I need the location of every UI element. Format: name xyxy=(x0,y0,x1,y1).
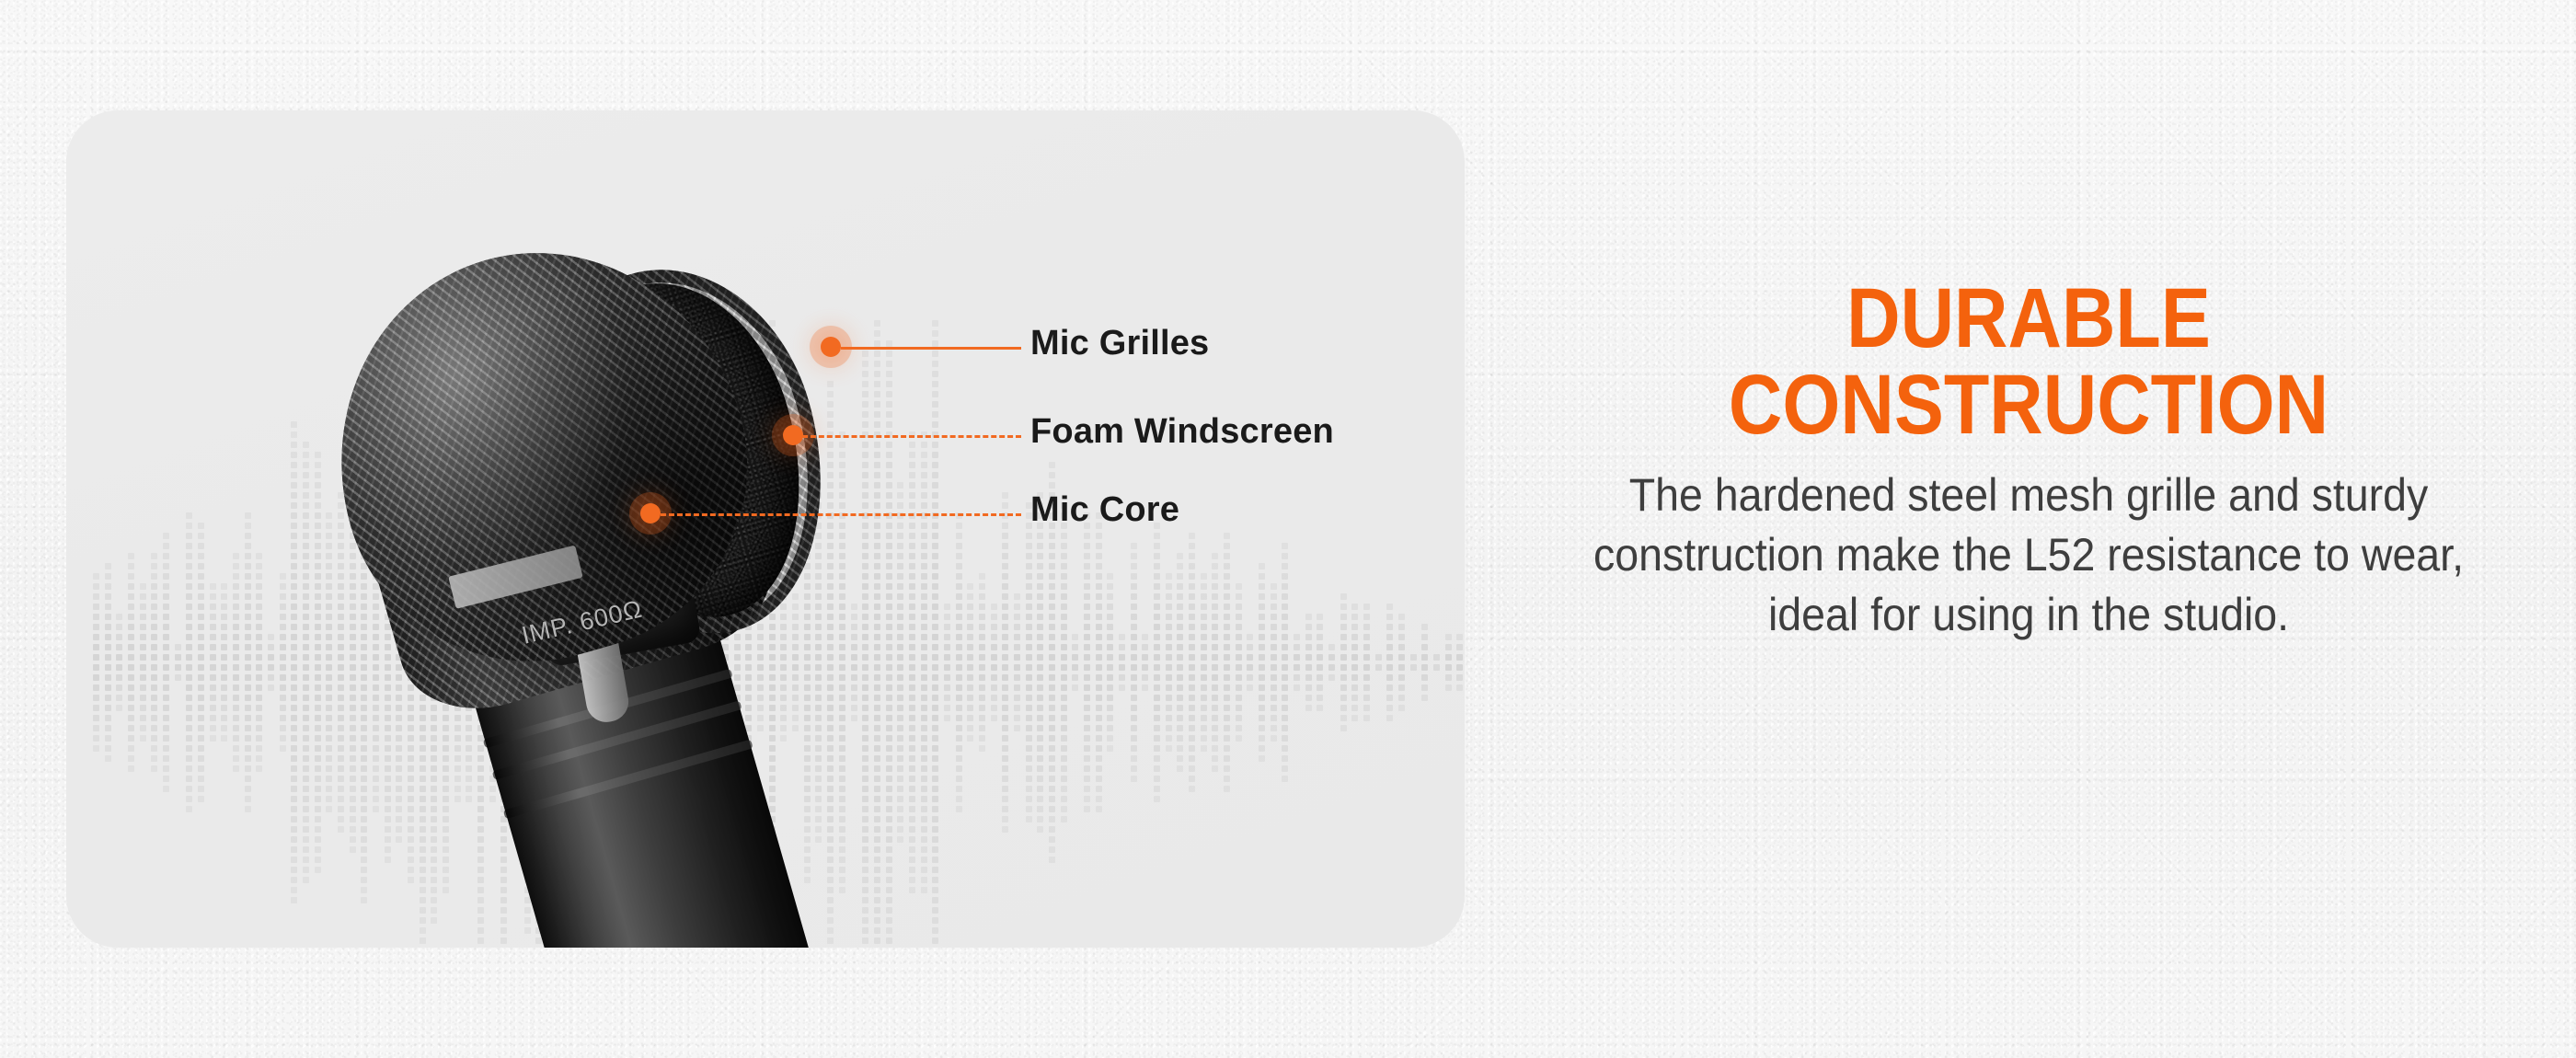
waveform-dot xyxy=(256,735,262,742)
waveform-dot xyxy=(1177,573,1183,580)
waveform-dot xyxy=(186,725,192,731)
waveform-dot xyxy=(128,664,134,671)
waveform-dot xyxy=(198,674,204,681)
waveform-dot xyxy=(128,634,134,640)
waveform-dot xyxy=(280,745,286,752)
waveform-dot xyxy=(1189,553,1195,559)
waveform-dot xyxy=(151,664,157,671)
waveform-dot xyxy=(245,725,251,731)
waveform-dot xyxy=(186,664,192,671)
waveform-column xyxy=(232,553,240,772)
waveform-dot xyxy=(1259,573,1265,580)
waveform-dot xyxy=(1259,624,1265,630)
waveform-dot xyxy=(1166,664,1172,671)
waveform-dot xyxy=(1386,695,1393,701)
waveform-dot xyxy=(1282,684,1288,691)
waveform-dot xyxy=(1294,634,1300,640)
waveform-dot xyxy=(1271,604,1277,610)
waveform-column xyxy=(1270,583,1278,742)
waveform-dot xyxy=(315,826,321,833)
waveform-dot xyxy=(186,604,192,610)
waveform-dot xyxy=(1282,573,1288,580)
waveform-dot xyxy=(1247,634,1253,640)
waveform-dot xyxy=(151,583,157,590)
waveform-dot xyxy=(1398,634,1405,640)
waveform-dot xyxy=(140,705,146,711)
waveform-dot xyxy=(186,553,192,559)
waveform-dot xyxy=(1351,684,1358,691)
waveform-dot xyxy=(140,583,146,590)
waveform-dot xyxy=(1386,664,1393,671)
waveform-dot xyxy=(1131,543,1137,549)
waveform-dot xyxy=(1236,604,1242,610)
waveform-dot xyxy=(303,836,309,843)
waveform-dot xyxy=(1363,604,1370,610)
waveform-dot xyxy=(1177,745,1183,752)
waveform-dot xyxy=(1236,593,1242,600)
waveform-dot xyxy=(1317,634,1323,640)
waveform-dot xyxy=(1271,684,1277,691)
waveform-dot xyxy=(1445,674,1452,681)
waveform-dot xyxy=(93,654,99,661)
waveform-dot xyxy=(186,614,192,620)
waveform-dot xyxy=(210,583,216,590)
waveform-dot xyxy=(1154,624,1160,630)
waveform-dot xyxy=(280,725,286,731)
waveform-dot xyxy=(116,614,122,620)
waveform-dot xyxy=(1224,695,1230,701)
waveform-dot xyxy=(1328,664,1335,671)
waveform-dot xyxy=(163,624,169,630)
waveform-dot xyxy=(245,644,251,650)
waveform-dot xyxy=(93,684,99,691)
waveform-dot xyxy=(1305,705,1312,711)
waveform-dot xyxy=(245,735,251,742)
waveform-dot xyxy=(1154,553,1160,559)
waveform-column xyxy=(1293,634,1301,691)
waveform-dot xyxy=(151,765,157,772)
waveform-dot xyxy=(198,614,204,620)
waveform-dot xyxy=(315,867,321,873)
waveform-dot xyxy=(1177,755,1183,762)
waveform-dot xyxy=(1259,745,1265,752)
waveform-dot xyxy=(1212,583,1218,590)
waveform-dot xyxy=(163,786,169,792)
waveform-dot xyxy=(163,745,169,752)
waveform-dot xyxy=(256,624,262,630)
waveform-dot xyxy=(210,674,216,681)
waveform-column xyxy=(115,614,123,711)
waveform-dot xyxy=(1282,755,1288,762)
waveform-dot xyxy=(1189,573,1195,580)
waveform-column xyxy=(220,583,228,742)
waveform-dot xyxy=(221,604,227,610)
waveform-dot xyxy=(1398,684,1405,691)
waveform-dot xyxy=(93,745,99,752)
waveform-dot xyxy=(233,695,239,701)
waveform-dot xyxy=(1201,614,1207,620)
waveform-dot xyxy=(303,857,309,863)
waveform-column xyxy=(127,553,135,772)
waveform-dot xyxy=(163,674,169,681)
waveform-dot xyxy=(1340,684,1347,691)
waveform-dot xyxy=(1224,786,1230,792)
waveform-dot xyxy=(1224,674,1230,681)
waveform-dot xyxy=(256,644,262,650)
waveform-dot xyxy=(1166,705,1172,711)
waveform-dot xyxy=(140,634,146,640)
waveform-dot xyxy=(105,593,111,600)
waveform-dot xyxy=(256,705,262,711)
waveform-dot xyxy=(1236,614,1242,620)
waveform-dot xyxy=(1259,614,1265,620)
waveform-dot xyxy=(1363,684,1370,691)
waveform-dot xyxy=(210,593,216,600)
waveform-dot xyxy=(1247,674,1253,681)
waveform-column xyxy=(1165,573,1173,752)
waveform-dot xyxy=(186,806,192,812)
waveform-dot xyxy=(291,846,297,853)
waveform-dot xyxy=(1317,624,1323,630)
waveform-dot xyxy=(1236,715,1242,721)
waveform-dot xyxy=(1177,654,1183,661)
waveform-dot xyxy=(1224,705,1230,711)
waveform-dot xyxy=(1189,624,1195,630)
waveform-dot xyxy=(1224,684,1230,691)
waveform-dot xyxy=(221,715,227,721)
waveform-dot xyxy=(1259,664,1265,671)
waveform-dot xyxy=(1177,583,1183,590)
waveform-dot xyxy=(1282,543,1288,549)
waveform-dot xyxy=(1351,614,1358,620)
waveform-dot xyxy=(1456,664,1463,671)
waveform-dot xyxy=(105,634,111,640)
waveform-dot xyxy=(140,715,146,721)
waveform-dot xyxy=(198,745,204,752)
waveform-dot xyxy=(1224,765,1230,772)
waveform-dot xyxy=(1177,563,1183,569)
waveform-dot xyxy=(163,573,169,580)
waveform-dot xyxy=(1212,624,1218,630)
waveform-dot xyxy=(1363,664,1370,671)
waveform-dot xyxy=(210,624,216,630)
waveform-dot xyxy=(1236,583,1242,590)
waveform-dot xyxy=(93,634,99,640)
waveform-dot xyxy=(1189,664,1195,671)
callout-label-foam-windscreen: Foam Windscreen xyxy=(1030,412,1334,452)
waveform-dot xyxy=(1386,715,1393,721)
waveform-dot xyxy=(221,624,227,630)
waveform-dot xyxy=(186,563,192,569)
waveform-dot xyxy=(1456,654,1463,661)
waveform-dot xyxy=(105,563,111,569)
callout-line-mic-grilles xyxy=(841,347,1021,350)
waveform-dot xyxy=(233,684,239,691)
waveform-dot xyxy=(1154,583,1160,590)
waveform-dot xyxy=(105,705,111,711)
waveform-dot xyxy=(198,776,204,782)
waveform-dot xyxy=(291,887,297,893)
waveform-column xyxy=(1153,523,1161,802)
waveform-dot xyxy=(1433,664,1440,671)
waveform-dot xyxy=(93,705,99,711)
waveform-dot xyxy=(1421,654,1428,661)
waveform-column xyxy=(139,583,147,742)
waveform-dot xyxy=(303,796,309,802)
waveform-dot xyxy=(1305,634,1312,640)
waveform-dot xyxy=(128,614,134,620)
waveform-dot xyxy=(1282,765,1288,772)
waveform-dot xyxy=(1340,715,1347,721)
waveform-dot xyxy=(221,664,227,671)
waveform-dot xyxy=(1201,725,1207,731)
waveform-dot xyxy=(280,735,286,742)
callout-dot-mic-core xyxy=(640,503,661,523)
waveform-dot xyxy=(1212,654,1218,661)
waveform-dot xyxy=(1351,695,1358,701)
waveform-dot xyxy=(291,826,297,833)
waveform-dot xyxy=(1305,684,1312,691)
waveform-dot xyxy=(186,674,192,681)
waveform-dot xyxy=(105,664,111,671)
waveform-dot xyxy=(1201,654,1207,661)
waveform-dot xyxy=(1212,765,1218,772)
waveform-dot xyxy=(210,604,216,610)
waveform-dot xyxy=(186,593,192,600)
waveform-dot xyxy=(1456,674,1463,681)
waveform-dot xyxy=(1271,654,1277,661)
waveform-dot xyxy=(163,583,169,590)
waveform-dot xyxy=(1282,695,1288,701)
waveform-dot xyxy=(1294,674,1300,681)
waveform-dot xyxy=(1212,553,1218,559)
waveform-dot xyxy=(1154,715,1160,721)
waveform-dot xyxy=(198,705,204,711)
waveform-dot xyxy=(1271,614,1277,620)
waveform-dot xyxy=(256,654,262,661)
waveform-dot xyxy=(151,695,157,701)
waveform-dot xyxy=(93,583,99,590)
waveform-dot xyxy=(163,543,169,549)
waveform-dot xyxy=(1421,684,1428,691)
waveform-dot xyxy=(1294,684,1300,691)
waveform-dot xyxy=(1236,624,1242,630)
waveform-dot xyxy=(198,725,204,731)
waveform-dot xyxy=(256,765,262,772)
waveform-dot xyxy=(1189,765,1195,772)
waveform-dot xyxy=(1259,735,1265,742)
waveform-dot xyxy=(186,735,192,742)
waveform-dot xyxy=(198,543,204,549)
waveform-dot xyxy=(1119,664,1125,671)
waveform-dot xyxy=(163,654,169,661)
waveform-dot xyxy=(1224,644,1230,650)
waveform-column xyxy=(1223,533,1231,792)
waveform-dot xyxy=(221,644,227,650)
waveform-dot xyxy=(1166,604,1172,610)
waveform-dot xyxy=(1107,583,1113,590)
waveform-dot xyxy=(245,614,251,620)
waveform-dot xyxy=(151,624,157,630)
waveform-dot xyxy=(186,684,192,691)
waveform-dot xyxy=(1294,654,1300,661)
waveform-dot xyxy=(1386,634,1393,640)
waveform-dot xyxy=(1317,664,1323,671)
waveform-dot xyxy=(1154,664,1160,671)
waveform-dot xyxy=(210,735,216,742)
waveform-dot xyxy=(210,634,216,640)
waveform-dot xyxy=(256,755,262,762)
waveform-dot xyxy=(1201,583,1207,590)
waveform-dot xyxy=(1189,654,1195,661)
waveform-dot xyxy=(186,543,192,549)
waveform-dot xyxy=(128,644,134,650)
waveform-dot xyxy=(128,553,134,559)
waveform-dot xyxy=(105,614,111,620)
waveform-dot xyxy=(1166,644,1172,650)
waveform-dot xyxy=(1386,654,1393,661)
waveform-dot xyxy=(1166,725,1172,731)
waveform-dot xyxy=(1236,634,1242,640)
waveform-dot xyxy=(186,695,192,701)
waveform-dot xyxy=(1259,604,1265,610)
waveform-dot xyxy=(1398,644,1405,650)
waveform-column xyxy=(1374,654,1383,671)
waveform-dot xyxy=(1142,654,1148,661)
waveform-dot xyxy=(163,644,169,650)
waveform-dot xyxy=(1201,664,1207,671)
waveform-dot xyxy=(1317,674,1323,681)
waveform-dot xyxy=(1305,674,1312,681)
waveform-dot xyxy=(1259,634,1265,640)
waveform-dot xyxy=(256,684,262,691)
waveform-dot xyxy=(1433,654,1440,661)
waveform-dot xyxy=(256,634,262,640)
waveform-dot xyxy=(186,644,192,650)
waveform-dot xyxy=(1154,533,1160,539)
waveform-dot xyxy=(1189,786,1195,792)
waveform-dot xyxy=(210,684,216,691)
waveform-dot xyxy=(151,725,157,731)
waveform-dot xyxy=(1340,664,1347,671)
waveform-dot xyxy=(1386,624,1393,630)
waveform-dot xyxy=(140,725,146,731)
waveform-dot xyxy=(1131,684,1137,691)
waveform-dot xyxy=(198,634,204,640)
waveform-dot xyxy=(1294,644,1300,650)
waveform-dot xyxy=(1305,624,1312,630)
waveform-dot xyxy=(210,695,216,701)
waveform-dot xyxy=(186,634,192,640)
waveform-dot xyxy=(163,715,169,721)
waveform-dot xyxy=(1131,695,1137,701)
waveform-dot xyxy=(128,745,134,752)
waveform-dot xyxy=(1271,674,1277,681)
waveform-dot xyxy=(1224,715,1230,721)
waveform-dot xyxy=(198,533,204,539)
waveform-dot xyxy=(128,563,134,569)
waveform-dot xyxy=(291,877,297,883)
waveform-dot xyxy=(1189,593,1195,600)
waveform-dot xyxy=(291,786,297,792)
waveform-dot xyxy=(1259,644,1265,650)
waveform-dot xyxy=(256,715,262,721)
waveform-column xyxy=(1444,634,1453,691)
waveform-dot xyxy=(1398,614,1405,620)
waveform-dot xyxy=(1084,533,1090,539)
waveform-dot xyxy=(198,735,204,742)
waveform-dot xyxy=(151,735,157,742)
waveform-dot xyxy=(1271,705,1277,711)
waveform-dot xyxy=(1282,654,1288,661)
waveform-dot xyxy=(221,735,227,742)
waveform-dot xyxy=(128,583,134,590)
waveform-dot xyxy=(198,695,204,701)
waveform-dot xyxy=(1107,593,1113,600)
waveform-column xyxy=(1421,624,1430,701)
waveform-dot xyxy=(140,614,146,620)
waveform-dot xyxy=(1456,684,1463,691)
waveform-dot xyxy=(256,725,262,731)
waveform-dot xyxy=(1224,735,1230,742)
waveform-dot xyxy=(1131,573,1137,580)
waveform-dot xyxy=(151,563,157,569)
waveform-dot xyxy=(233,563,239,569)
waveform-dot xyxy=(1236,644,1242,650)
waveform-dot xyxy=(105,674,111,681)
waveform-dot xyxy=(315,846,321,853)
waveform-dot xyxy=(151,644,157,650)
waveform-dot xyxy=(1236,684,1242,691)
waveform-dot xyxy=(163,765,169,772)
waveform-dot xyxy=(93,593,99,600)
waveform-dot xyxy=(1259,563,1265,569)
page-title: DURABLE CONSTRUCTION xyxy=(1587,276,2469,449)
waveform-dot xyxy=(1119,634,1125,640)
waveform-dot xyxy=(1166,715,1172,721)
waveform-dot xyxy=(93,735,99,742)
waveform-dot xyxy=(221,674,227,681)
waveform-dot xyxy=(1271,715,1277,721)
waveform-dot xyxy=(1351,634,1358,640)
waveform-dot xyxy=(280,705,286,711)
waveform-dot xyxy=(1282,705,1288,711)
waveform-dot xyxy=(1247,644,1253,650)
waveform-column xyxy=(1351,604,1360,721)
waveform-dot xyxy=(233,735,239,742)
waveform-dot xyxy=(198,553,204,559)
waveform-dot xyxy=(116,674,122,681)
waveform-dot xyxy=(198,624,204,630)
waveform-dot xyxy=(1154,654,1160,661)
waveform-dot xyxy=(1456,644,1463,650)
waveform-dot xyxy=(1107,604,1113,610)
waveform-dot xyxy=(1271,664,1277,671)
waveform-dot xyxy=(1224,583,1230,590)
waveform-dot xyxy=(1363,654,1370,661)
waveform-dot xyxy=(198,563,204,569)
waveform-dot xyxy=(1189,563,1195,569)
waveform-dot xyxy=(1375,654,1382,661)
waveform-dot xyxy=(1282,735,1288,742)
waveform-dot xyxy=(1154,765,1160,772)
waveform-dot xyxy=(1282,776,1288,782)
waveform-dot xyxy=(1201,644,1207,650)
waveform-dot xyxy=(1386,674,1393,681)
waveform-dot xyxy=(175,664,181,671)
waveform-column xyxy=(1432,654,1441,671)
waveform-dot xyxy=(245,593,251,600)
